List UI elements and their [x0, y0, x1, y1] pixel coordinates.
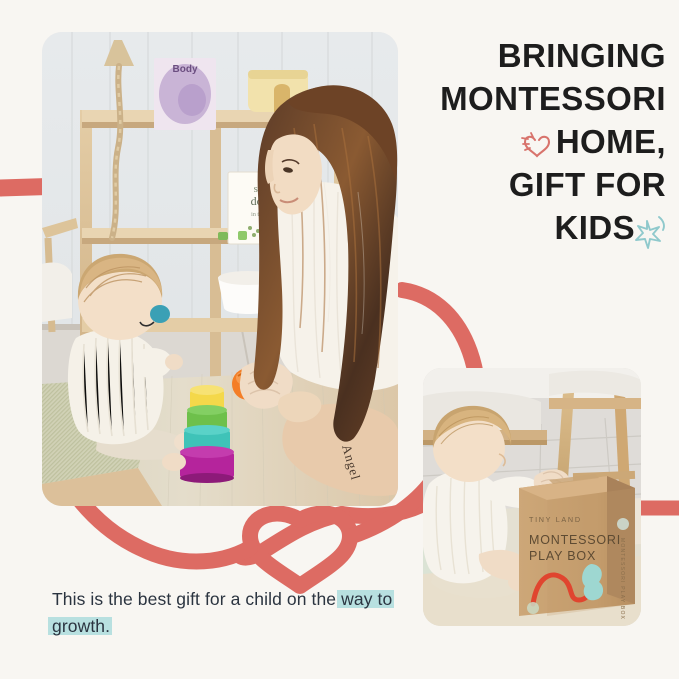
headline-block: BRINGING MONTESSORI HOME, GIFT FOR KIDS: [398, 34, 666, 249]
svg-text:MONTESSORI: MONTESSORI: [529, 533, 621, 547]
poster-canvas: Body slow down in the park: [0, 0, 679, 679]
caption-text: This is the best gift for a child on the…: [52, 586, 422, 640]
headline-line-2: MONTESSORI: [398, 77, 666, 120]
svg-text:PLAY BOX: PLAY BOX: [529, 549, 596, 563]
headline-line-1: BRINGING: [398, 34, 666, 77]
main-lifestyle-photo: Body slow down in the park: [42, 32, 398, 506]
headline-line-5: KIDS: [398, 206, 666, 249]
svg-text:Body: Body: [173, 64, 198, 75]
headline-text-3: HOME,: [556, 120, 666, 163]
secondary-product-photo: TINY LAND MONTESSORI PLAY BOX MONTESSORI…: [423, 368, 641, 626]
headline-text-1: BRINGING: [498, 34, 666, 77]
hand-drawn-star-icon: [633, 215, 666, 249]
hand-drawn-heart-icon: [521, 128, 555, 158]
headline-text-4: GIFT FOR: [509, 163, 666, 206]
svg-text:TINY LAND: TINY LAND: [529, 515, 582, 524]
headline-line-3: HOME,: [398, 120, 666, 163]
svg-text:MONTESSORI PLAY BOX: MONTESSORI PLAY BOX: [619, 538, 625, 620]
headline-text-2: MONTESSORI: [440, 77, 666, 120]
headline-text-5: KIDS: [555, 206, 635, 249]
headline-line-4: GIFT FOR: [398, 163, 666, 206]
caption-line-1: This is the best gift for a child on the: [52, 589, 336, 609]
